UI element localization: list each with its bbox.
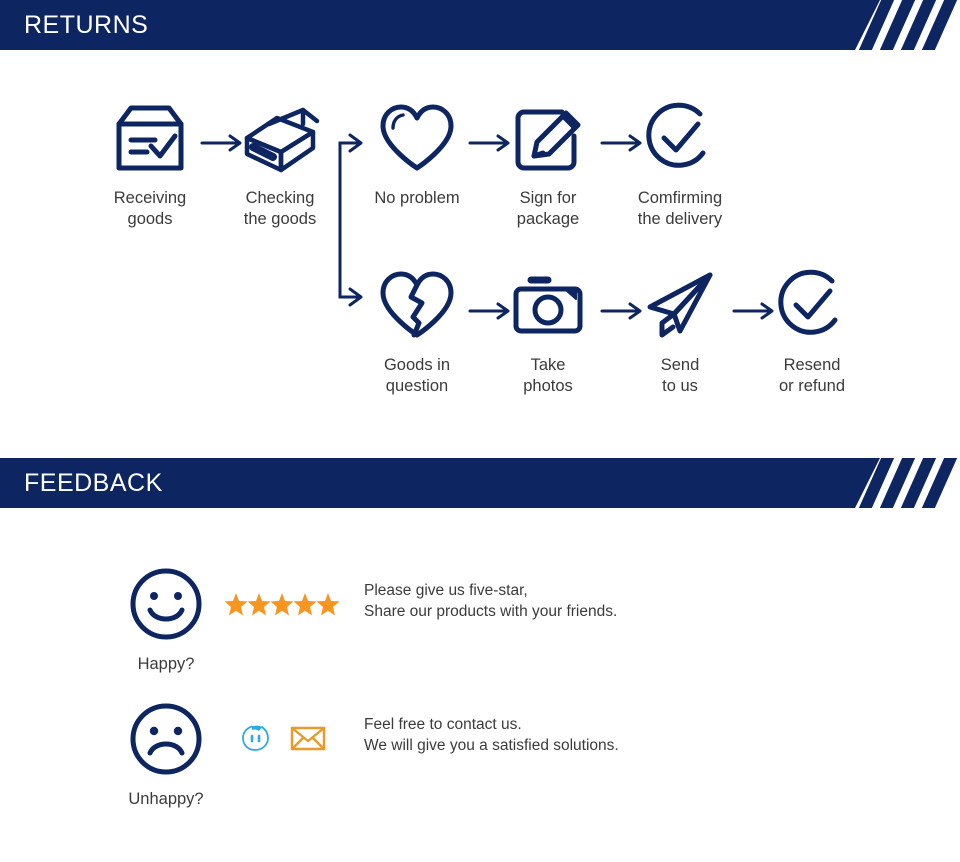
flow-node-goods-in-question: Goods in question [357, 265, 477, 397]
box-check-icon [90, 98, 210, 178]
feedback-message-happy: Please give us five-star, Share our prod… [364, 580, 617, 622]
feedback-message-unhappy: Feel free to contact us. We will give yo… [364, 714, 619, 756]
paper-plane-icon [620, 265, 740, 345]
envelope-icon[interactable] [290, 725, 326, 756]
contact-icons [240, 723, 326, 758]
flow-node-sign-for-package: Sign for package [488, 98, 608, 230]
flow-node-label: Send to us [620, 355, 740, 397]
feedback-face-label: Unhappy? [120, 790, 212, 809]
flow-node-label: Goods in question [357, 355, 477, 397]
flow-node-resend-or-refund: Resend or refund [750, 265, 874, 397]
returns-banner-stripes [866, 0, 960, 50]
flow-node-take-photos: Take photos [488, 265, 608, 397]
flow-node-label: Take photos [488, 355, 608, 397]
smiley-happy-icon: Happy? [120, 566, 212, 674]
chat-bubble-icon[interactable] [240, 723, 272, 758]
flow-node-label: Receiving goods [90, 188, 210, 230]
flow-node-label: No problem [357, 188, 477, 209]
flow-node-label: Checking the goods [218, 188, 342, 230]
star-icon [224, 592, 344, 618]
flow-node-send-to-us: Send to us [620, 265, 740, 397]
feedback-row-unhappy: Unhappy? Feel free to contact us. We wil… [0, 693, 960, 813]
star-rating [224, 592, 344, 618]
feedback-banner-stripes [866, 458, 960, 508]
returns-banner: RETURNS [0, 0, 960, 50]
broken-heart-icon [357, 265, 477, 345]
feedback-banner-title: FEEDBACK [24, 458, 163, 508]
open-box-icon [218, 98, 342, 178]
flow-node-comfirming-the-delivery: Comfirming the delivery [618, 98, 742, 230]
flow-node-label: Comfirming the delivery [618, 188, 742, 230]
feedback-row-happy: Happy? Please give us five-star, Share o… [0, 558, 960, 678]
flow-node-receiving-goods: Receiving goods [90, 98, 210, 230]
camera-icon [488, 265, 608, 345]
check-circle-icon [618, 98, 742, 178]
returns-flow-diagram: Receiving goods Checking the goods [0, 50, 960, 440]
feedback-section: Happy? Please give us five-star, Share o… [0, 508, 960, 862]
smiley-sad-icon: Unhappy? [120, 701, 212, 809]
flow-node-no-problem: No problem [357, 98, 477, 209]
flow-node-label: Resend or refund [750, 355, 874, 397]
flow-node-label: Sign for package [488, 188, 608, 230]
heart-icon [357, 98, 477, 178]
flow-node-checking-the-goods: Checking the goods [218, 98, 342, 230]
check-circle-icon [750, 265, 874, 345]
returns-banner-title: RETURNS [24, 0, 148, 50]
pencil-square-icon [488, 98, 608, 178]
feedback-banner: FEEDBACK [0, 458, 960, 508]
feedback-face-label: Happy? [120, 655, 212, 674]
